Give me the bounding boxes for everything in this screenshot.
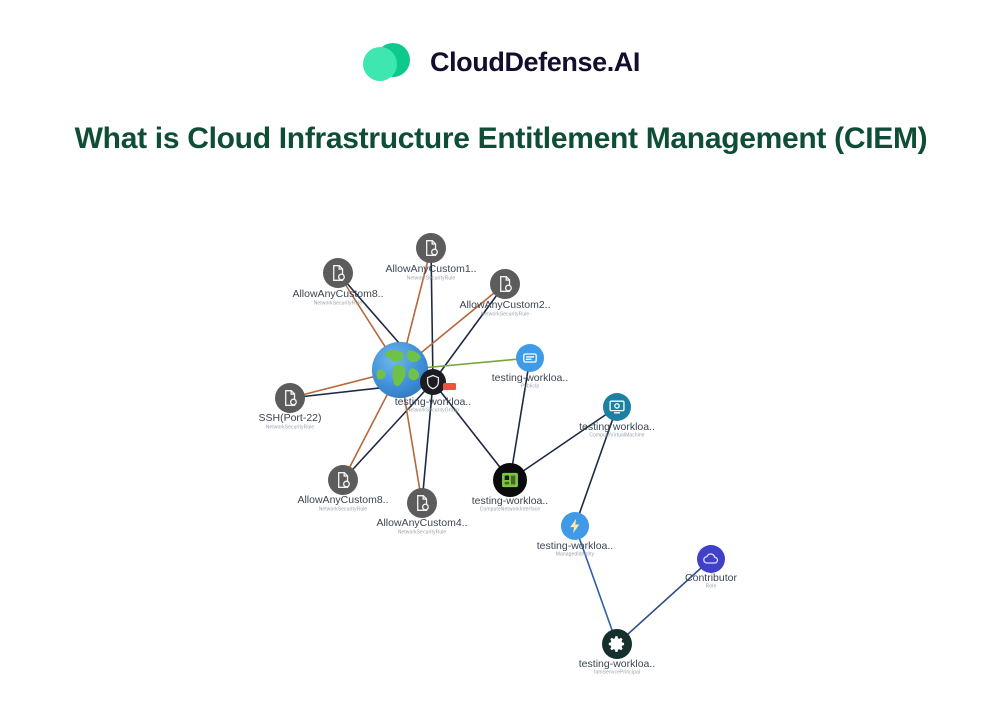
node-circle[interactable] bbox=[490, 269, 520, 299]
graph-nodes[interactable]: AllowAnyCustom1..NetworkSecurityRuleAllo… bbox=[258, 233, 737, 675]
graph-node-internet-globe[interactable] bbox=[372, 342, 428, 398]
graph-node-contributor-role[interactable]: ContributorRole bbox=[685, 545, 737, 589]
page-title-line2: (CIEM) bbox=[834, 122, 927, 155]
cloud-entitlement-graph[interactable]: AllowAnyCustom1..NetworkSecurityRuleAllo… bbox=[0, 218, 1002, 710]
graph-edge bbox=[510, 407, 617, 480]
node-label: SSH(Port-22) bbox=[258, 412, 321, 424]
node-circle[interactable] bbox=[275, 383, 305, 413]
brand-name: CloudDefense.AI bbox=[430, 47, 640, 78]
graph-node-allowanycustom8-bottom[interactable]: AllowAnyCustom8..NetworkSecurityRule bbox=[297, 465, 388, 512]
node-label: testing-workloa.. bbox=[492, 372, 568, 384]
node-label: AllowAnyCustom8.. bbox=[297, 494, 388, 506]
node-sublabel: NetworkSecurityRule bbox=[266, 424, 315, 430]
node-circle[interactable] bbox=[323, 258, 353, 288]
node-circle[interactable] bbox=[697, 545, 725, 573]
node-sublabel: NetworkSecurityRule bbox=[481, 311, 530, 317]
page-title-line1: What is Cloud Infrastructure Entitlement… bbox=[75, 122, 826, 155]
node-alert-badge[interactable] bbox=[443, 383, 456, 390]
graph-node-testing-workload-identity[interactable]: testing-workloa..ManagedIdentity bbox=[537, 512, 613, 557]
node-label: AllowAnyCustom1.. bbox=[385, 263, 476, 275]
node-label: Contributor bbox=[685, 572, 737, 584]
node-circle[interactable] bbox=[328, 465, 358, 495]
node-circle[interactable] bbox=[416, 233, 446, 263]
page-root: CloudDefense.AI What is Cloud Infrastruc… bbox=[0, 0, 1002, 710]
graph-node-testing-workload-publicip[interactable]: testing-workloa..PublicIp bbox=[492, 344, 568, 389]
node-circle[interactable] bbox=[407, 488, 437, 518]
node-circle[interactable] bbox=[420, 369, 446, 395]
node-label: testing-workloa.. bbox=[537, 540, 613, 552]
node-sublabel: ComputeNetworkInterface bbox=[480, 506, 541, 512]
graph-node-allowanycustom8-top[interactable]: AllowAnyCustom8..NetworkSecurityRule bbox=[292, 258, 383, 306]
node-sublabel: NetworkSecurityGroup bbox=[407, 407, 459, 413]
page-title: What is Cloud Infrastructure Entitlement… bbox=[50, 116, 952, 162]
network-interface-icon bbox=[502, 473, 518, 487]
node-sublabel: IamServicePrincipal bbox=[594, 669, 640, 675]
brand-header: CloudDefense.AI bbox=[0, 38, 1002, 86]
node-sublabel: PublicIp bbox=[521, 383, 540, 389]
node-sublabel: NetworkSecurityRule bbox=[319, 506, 368, 512]
graph-node-allowanycustom4[interactable]: AllowAnyCustom4..NetworkSecurityRule bbox=[376, 488, 467, 535]
graph-node-testing-workload-nic[interactable]: testing-workloa..ComputeNetworkInterface bbox=[472, 463, 548, 512]
node-label: testing-workloa.. bbox=[395, 396, 471, 408]
node-sublabel: ComputeVirtualMachine bbox=[589, 432, 644, 438]
node-sublabel: Role bbox=[706, 583, 717, 589]
graph-node-allowanycustom2[interactable]: AllowAnyCustom2..NetworkSecurityRule bbox=[459, 269, 550, 317]
node-label: AllowAnyCustom4.. bbox=[376, 517, 467, 529]
node-sublabel: NetworkSecurityRule bbox=[407, 275, 456, 281]
clouddefense-logo-icon bbox=[362, 38, 414, 86]
graph-node-ssh-port-22[interactable]: SSH(Port-22)NetworkSecurityRule bbox=[258, 383, 321, 430]
node-label: AllowAnyCustom2.. bbox=[459, 299, 550, 311]
graph-node-allowanycustom1[interactable]: AllowAnyCustom1..NetworkSecurityRule bbox=[385, 233, 476, 281]
node-sublabel: NetworkSecurityRule bbox=[398, 529, 447, 535]
node-label: AllowAnyCustom8.. bbox=[292, 288, 383, 300]
graph-canvas[interactable]: AllowAnyCustom1..NetworkSecurityRuleAllo… bbox=[0, 218, 1002, 710]
node-circle[interactable] bbox=[516, 344, 544, 372]
node-label: testing-workloa.. bbox=[579, 658, 655, 670]
graph-node-testing-workload-vm[interactable]: testing workloa..ComputeVirtualMachine bbox=[579, 393, 655, 438]
node-sublabel: NetworkSecurityRule bbox=[314, 300, 363, 306]
service-principal-gear-icon bbox=[609, 636, 624, 652]
node-circle[interactable] bbox=[603, 393, 631, 421]
graph-node-testing-workload-principal[interactable]: testing-workloa..IamServicePrincipal bbox=[579, 629, 655, 675]
node-label: testing workloa.. bbox=[579, 421, 655, 433]
node-label: testing-workloa.. bbox=[472, 495, 548, 507]
node-sublabel: ManagedIdentity bbox=[556, 551, 595, 557]
